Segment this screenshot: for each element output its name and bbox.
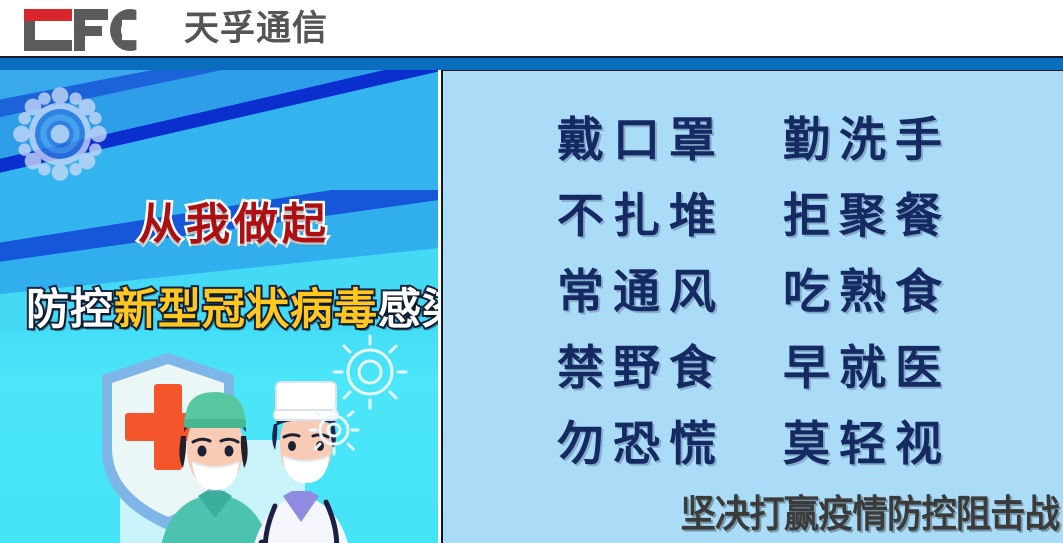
slogan-row: 不扎堆 拒聚餐 (443, 173, 1063, 249)
bottom-slogan: 坚决打赢疫情防控阻击战 (680, 483, 1059, 538)
logo-letter-f (74, 9, 108, 51)
logo-letter-c2 (110, 9, 150, 51)
cfc-logo-icon (22, 6, 132, 52)
poster-page: 天孚通信 (0, 0, 1063, 543)
slogan-right: 拒聚餐 (783, 177, 951, 246)
site-header: 天孚通信 (0, 0, 1063, 57)
poster-headline: 从我做起 (138, 188, 330, 252)
slogan-left: 勿恐慌 (557, 405, 725, 474)
coronavirus-icon (8, 82, 112, 186)
slogan-row: 戴口罩 勤洗手 (443, 97, 1063, 173)
slogan-right: 吃熟食 (783, 253, 951, 322)
slogan-list: 戴口罩 勤洗手 不扎堆 拒聚餐 常通风 吃熟食 禁野食 早就医 勿恐慌 莫轻视 (443, 97, 1063, 477)
logo-letter-c (24, 21, 72, 51)
slogan-right: 早就医 (783, 329, 951, 398)
slogan-left: 不扎堆 (557, 177, 725, 246)
logo-letter-f-mid (74, 26, 102, 36)
poster-image-panel: 从我做起 防控新型冠状病毒感染 (0, 70, 438, 543)
slogan-right: 勤洗手 (783, 101, 951, 170)
brand-name: 天孚通信 (184, 6, 328, 52)
slogan-left: 戴口罩 (557, 101, 725, 170)
logo-letter-f-top (74, 9, 108, 20)
slogan-row: 常通风 吃熟食 (443, 249, 1063, 325)
logo-red-bar (24, 9, 72, 21)
medical-illustration (40, 320, 420, 543)
slogan-panel: 戴口罩 勤洗手 不扎堆 拒聚餐 常通风 吃熟食 禁野食 早就医 勿恐慌 莫轻视 … (441, 70, 1063, 543)
slogan-row: 禁野食 早就医 (443, 325, 1063, 401)
slogan-left: 常通风 (557, 253, 725, 322)
header-blue-bar (0, 58, 1063, 70)
slogan-right: 莫轻视 (783, 405, 951, 474)
virus-particle-icon (334, 336, 406, 408)
slogan-row: 勿恐慌 莫轻视 (443, 401, 1063, 477)
brand-logo[interactable]: 天孚通信 (22, 6, 328, 52)
slogan-left: 禁野食 (557, 329, 725, 398)
